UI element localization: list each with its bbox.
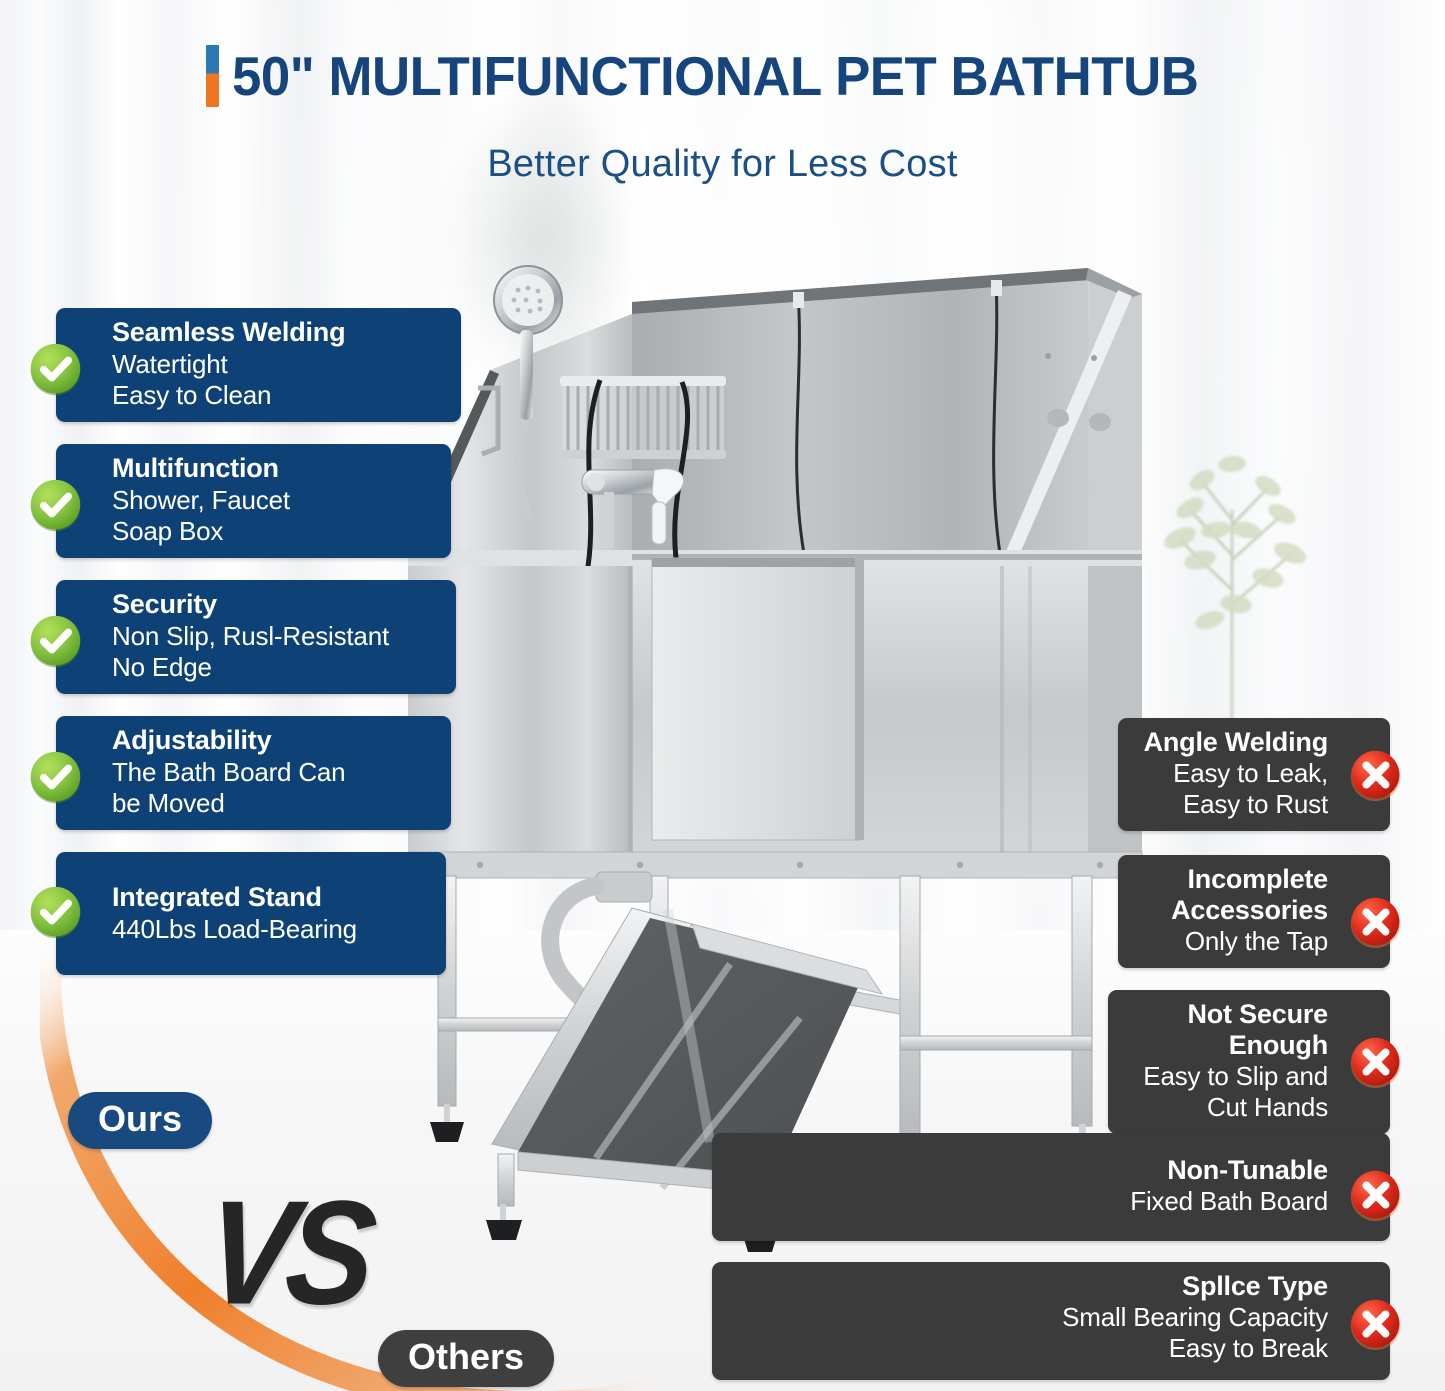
feature-heading: Seamless Welding <box>112 317 445 349</box>
feature-detail: 440Lbs Load-Bearing <box>112 914 430 945</box>
drawback-detail: Easy to Leak, <box>1136 758 1328 789</box>
feature-detail: Non Slip, Rusl-Resistant <box>112 621 440 652</box>
ours-badge: Ours <box>68 1092 212 1149</box>
feature-detail: Easy to Clean <box>112 380 445 411</box>
drawback-heading: Not Secure <box>1126 999 1328 1030</box>
feature-card-ours-3: Security Non Slip, Rusl-Resistant No Edg… <box>56 580 456 694</box>
feature-card-ours-2: Multifunction Shower, Faucet Soap Box <box>56 444 451 558</box>
feature-heading: Security <box>112 589 440 621</box>
drawback-detail: Easy to Slip and <box>1126 1061 1328 1092</box>
feature-detail: The Bath Board Can <box>112 757 435 788</box>
others-badge: Others <box>378 1330 554 1387</box>
drawback-detail: Only the Tap <box>1136 926 1328 957</box>
drawback-heading: Angle Welding <box>1136 727 1328 758</box>
check-circle-icon <box>28 885 83 940</box>
page-subtitle: Better Quality for Less Cost <box>0 143 1445 186</box>
check-circle-icon <box>28 750 83 805</box>
feature-detail: Shower, Faucet <box>112 485 435 516</box>
drawback-heading: Incomplete <box>1136 864 1328 895</box>
drawback-detail: Easy to Break <box>730 1333 1328 1364</box>
drawback-heading: Enough <box>1126 1030 1328 1061</box>
check-circle-icon <box>28 342 83 397</box>
check-circle-icon <box>28 478 83 533</box>
title-accent-bar <box>206 45 219 107</box>
drawback-heading: Accessories <box>1136 895 1328 926</box>
title-text: 50" MULTIFUNCTIONAL PET BATHTUB <box>232 44 1198 108</box>
check-circle-icon <box>28 614 83 669</box>
drawback-detail: Easy to Rust <box>1136 789 1328 820</box>
feature-detail: Soap Box <box>112 516 435 547</box>
cross-circle-icon <box>1348 1297 1403 1352</box>
drawback-heading: Non-Tunable <box>730 1155 1328 1186</box>
feature-heading: Multifunction <box>112 453 435 485</box>
decor-plant-icon <box>1140 390 1380 720</box>
cross-circle-icon <box>1348 895 1403 950</box>
product-image-pet-bathtub <box>400 258 1160 1268</box>
drawback-detail: Fixed Bath Board <box>730 1186 1328 1217</box>
cross-circle-icon <box>1348 748 1403 803</box>
feature-detail: Watertight <box>112 349 445 380</box>
page-title: 50" MULTIFUNCTIONAL PET BATHTUB <box>0 44 1445 112</box>
feature-card-ours-5: Integrated Stand 440Lbs Load-Bearing <box>56 852 446 975</box>
vs-logo: VS <box>199 1168 375 1337</box>
feature-heading: Adjustability <box>112 725 435 757</box>
feature-detail: No Edge <box>112 652 440 683</box>
feature-card-ours-4: Adjustability The Bath Board Can be Move… <box>56 716 451 830</box>
cross-circle-icon <box>1348 1168 1403 1223</box>
drawback-card-others-5: Spllce Type Small Bearing Capacity Easy … <box>712 1262 1390 1380</box>
feature-heading: Integrated Stand <box>112 882 430 914</box>
infographic-canvas: 50" MULTIFUNCTIONAL PET BATHTUB Better Q… <box>0 0 1445 1391</box>
drawback-card-others-4: Non-Tunable Fixed Bath Board <box>712 1133 1390 1241</box>
cross-circle-icon <box>1348 1035 1403 1090</box>
drawback-heading: Spllce Type <box>730 1271 1328 1302</box>
feature-card-ours-1: Seamless Welding Watertight Easy to Clea… <box>56 308 461 422</box>
drawback-detail: Small Bearing Capacity <box>730 1302 1328 1333</box>
drawback-detail: Cut Hands <box>1126 1092 1328 1123</box>
feature-detail: be Moved <box>112 788 435 819</box>
